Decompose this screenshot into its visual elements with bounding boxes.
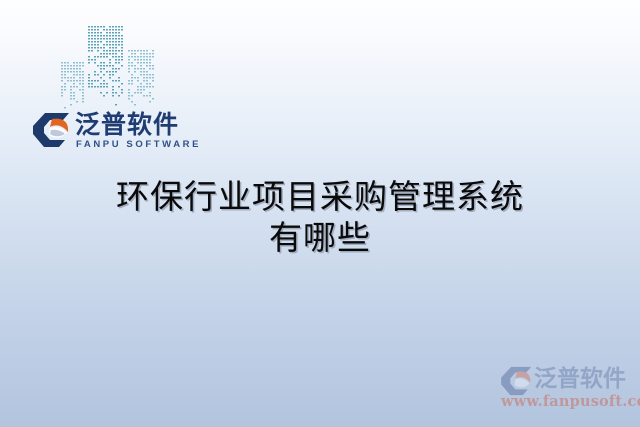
page-title-line-2: 有哪些 (0, 217, 640, 258)
watermark-url: www.fanpusoft.com (501, 393, 640, 410)
watermark-name-cn: 泛普软件 (534, 364, 626, 392)
watermark: 泛普软件 www.fanpusoft.com (500, 364, 638, 416)
brand-name-en: FANPU SOFTWARE (76, 139, 201, 150)
page-title: 环保行业项目采购管理系统 有哪些 (0, 176, 640, 258)
brand-logo: 泛普软件 FANPU SOFTWARE (30, 110, 175, 158)
brand-name-cn: 泛普软件 (75, 110, 179, 140)
slide-canvas: 泛普软件 FANPU SOFTWARE 环保行业项目采购管理系统 有哪些 泛普软… (0, 0, 640, 427)
pixel-skyline-graphic (55, 24, 159, 110)
page-title-line-1: 环保行业项目采购管理系统 (0, 176, 640, 217)
fanpu-logo-mark-icon (32, 112, 72, 148)
fanpu-logo-mark-watermark-icon (500, 366, 534, 396)
